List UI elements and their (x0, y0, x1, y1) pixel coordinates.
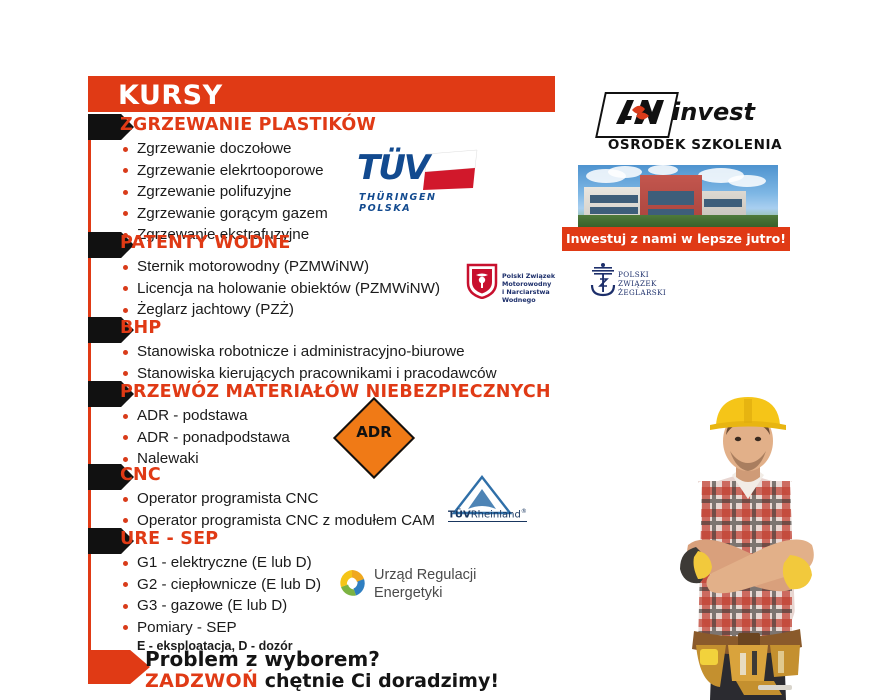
asm-logo-word: invest (672, 98, 755, 126)
pzmwinw-logo-text: Polski Związek Motorowodny i Narciarstwa… (502, 272, 582, 304)
page-title: KURSY (118, 80, 223, 111)
construction-worker-photo (640, 395, 865, 700)
section-cnc: CNC Operator programista CNC Operator pr… (120, 465, 435, 531)
list-item: Zgrzewanie doczołowe (120, 138, 376, 160)
section-title: ZGRZEWANIE PLASTIKÓW (120, 115, 376, 135)
office-building-photo (578, 165, 778, 227)
pzmwinw-shield-icon (466, 263, 498, 299)
registered-mark-icon: ® (521, 508, 527, 515)
pzz-line1: POLSKI (618, 270, 680, 279)
list-item: G3 - gazowe (E lub D) (120, 595, 321, 617)
ure-swirl-icon (336, 567, 368, 599)
cta-call-word: ZADZWOŃ (145, 670, 258, 692)
cta-call-rest: chętnie Ci doradzimy! (258, 670, 499, 692)
section-item-list: Sternik motorowodny (PZMWiNW) Licencja n… (120, 256, 440, 321)
tuv-thuringen-wordmark: TÜV (357, 148, 428, 188)
section-title: PATENTY WODNE (120, 233, 440, 253)
section-item-list: Stanowiska robotnicze i administracyjno-… (120, 341, 497, 384)
poster-root: KURSY ZGRZEWANIE PLASTIKÓW Zgrzewanie do… (0, 0, 871, 700)
kursy-header-bar: KURSY (88, 76, 555, 112)
section-zgrzewanie: ZGRZEWANIE PLASTIKÓW Zgrzewanie doczołow… (120, 115, 376, 246)
list-item: G2 - ciepłownicze (E lub D) (120, 574, 321, 596)
list-item: Zgrzewanie elekrtooporowe (120, 160, 376, 182)
tuv-thuringen-subtitle: THÜRINGEN POLSKA (359, 192, 480, 214)
section-title: BHP (120, 318, 497, 338)
cta-headline: Problem z wyborem? (145, 648, 499, 670)
cta-arrow-icon (88, 650, 150, 684)
list-item: Operator programista CNC (120, 488, 435, 510)
list-item: G1 - elektryczne (E lub D) (120, 552, 321, 574)
pzmwinw-line1: Polski Związek Motorowodny (502, 272, 582, 288)
adr-placard-label: ADR (345, 423, 403, 441)
pzz-line3: ŻEGLARSKI (618, 288, 680, 297)
tagline-text: Inwestuj z nami w lepsze jutro! (562, 227, 790, 251)
list-item: Zgrzewanie polifuzyjne (120, 181, 376, 203)
list-item: Sternik motorowodny (PZMWiNW) (120, 256, 440, 278)
section-title: PRZEWÓZ MATERIAŁÓW NIEBEZPIECZNYCH (120, 382, 551, 402)
tuv-thuringen-logo: TÜV THÜRINGEN POLSKA (355, 148, 480, 210)
tuv-rheinland-rest: Rheinland (471, 509, 521, 520)
section-item-list: Zgrzewanie doczołowe Zgrzewanie elekrtoo… (120, 138, 376, 246)
pzz-line2: ZWIĄZEK (618, 279, 680, 288)
pzz-anchor-icon (588, 263, 618, 299)
list-item: Operator programista CNC z modułem CAM (120, 510, 435, 532)
section-item-list: Operator programista CNC Operator progra… (120, 488, 435, 531)
cta-block: Problem z wyborem? ZADZWOŃ chętnie Ci do… (145, 648, 499, 693)
section-title: URE - SEP (120, 529, 321, 549)
pzz-logo-text: POLSKI ZWIĄZEK ŻEGLARSKI (618, 270, 680, 297)
asm-logo-letters (612, 96, 670, 135)
ure-logo-text: Urząd Regulacji Energetyki (374, 567, 476, 602)
section-item-list: G1 - elektryczne (E lub D) G2 - ciepłown… (120, 552, 321, 638)
pzmwinw-line2: i Narciarstwa Wodnego (502, 288, 582, 304)
section-patenty-wodne: PATENTY WODNE Sternik motorowodny (PZMWi… (120, 233, 440, 321)
building-foreground-trees (578, 215, 778, 227)
tagline-banner: Inwestuj z nami w lepsze jutro! (562, 227, 790, 251)
list-item: Licencja na holowanie obiektów (PZMWiNW) (120, 278, 440, 300)
tuv-rheinland-wordmark: TÜVRheinland® (448, 508, 527, 522)
list-item: Stanowiska robotnicze i administracyjno-… (120, 341, 497, 363)
list-item: Stanowiska kierujących pracownikami i pr… (120, 363, 497, 385)
tuv-rheinland-bold: TÜV (448, 509, 471, 520)
list-item: Zgrzewanie gorącym gazem (120, 203, 376, 225)
asm-monogram-icon (612, 96, 670, 128)
ure-line2: Energetyki (374, 585, 476, 603)
section-przewoz: PRZEWÓZ MATERIAŁÓW NIEBEZPIECZNYCH ADR -… (120, 382, 551, 470)
section-title: CNC (120, 465, 435, 485)
section-ure-sep: URE - SEP G1 - elektryczne (E lub D) G2 … (120, 529, 321, 653)
ure-line1: Urząd Regulacji (374, 567, 476, 585)
asm-logo-subtitle: OŚRODEK SZKOLENIA (600, 137, 790, 153)
list-item: Pomiary - SEP (120, 617, 321, 639)
section-bhp: BHP Stanowiska robotnicze i administracy… (120, 318, 497, 384)
cta-subline: ZADZWOŃ chętnie Ci doradzimy! (145, 670, 499, 693)
list-item: ADR - podstawa (120, 405, 551, 427)
